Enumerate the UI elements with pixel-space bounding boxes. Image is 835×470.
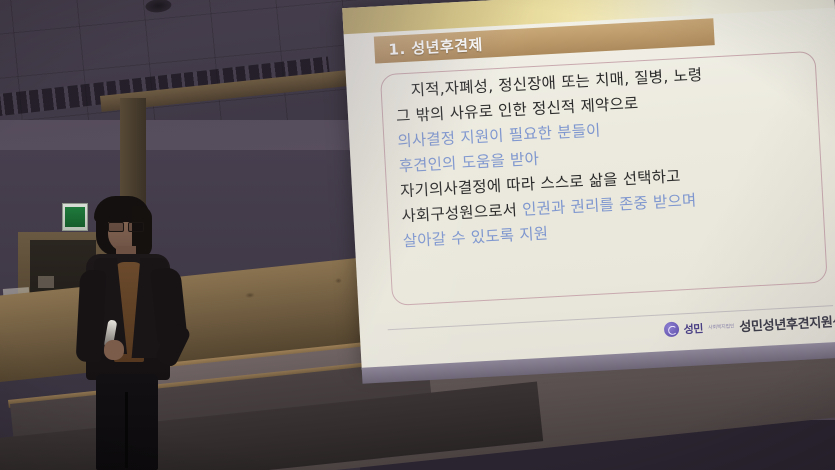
organization-name: 성민성년후견지원센터 — [739, 310, 835, 335]
slide-title-text: 1. 성년후견제 — [388, 34, 483, 60]
glasses-icon — [108, 222, 144, 230]
slide-footer: 성민 사회복지법인 성민성년후견지원센터 — [663, 310, 835, 339]
presenter — [70, 196, 210, 470]
slide-surface: 1. 성년후견제 지적,자폐성, 정신장애 또는 치매, 질병, 노령그 밖의 … — [342, 0, 835, 370]
slide-line-6-text: 사회구성원으로서 — [401, 201, 523, 226]
logo-wordmark: 성민 — [683, 320, 703, 337]
organization-logo-icon — [663, 322, 679, 338]
logo-subtext: 사회복지법인 — [708, 323, 735, 330]
slide-body-text: 지적,자폐성, 정신장애 또는 치매, 질병, 노령그 밖의 사유로 인한 정신… — [394, 57, 821, 254]
slide-line-6-highlight: 인권과 권리를 존중 받으며 — [522, 191, 697, 218]
hand — [104, 340, 124, 360]
slide-line-4-text: 후견인의 도움을 받아 — [398, 150, 539, 176]
screenshot-root: 1. 성년후견제 지적,자폐성, 정신장애 또는 치매, 질병, 노령그 밖의 … — [0, 0, 835, 470]
slide-line-7-text: 살아갈 수 있도록 지원 — [402, 224, 548, 250]
projection-screen: 1. 성년후견제 지적,자폐성, 정신장애 또는 치매, 질병, 노령그 밖의 … — [342, 0, 835, 370]
door-plate — [38, 276, 54, 288]
arm-left — [76, 269, 107, 362]
trouser-seam — [125, 392, 128, 468]
